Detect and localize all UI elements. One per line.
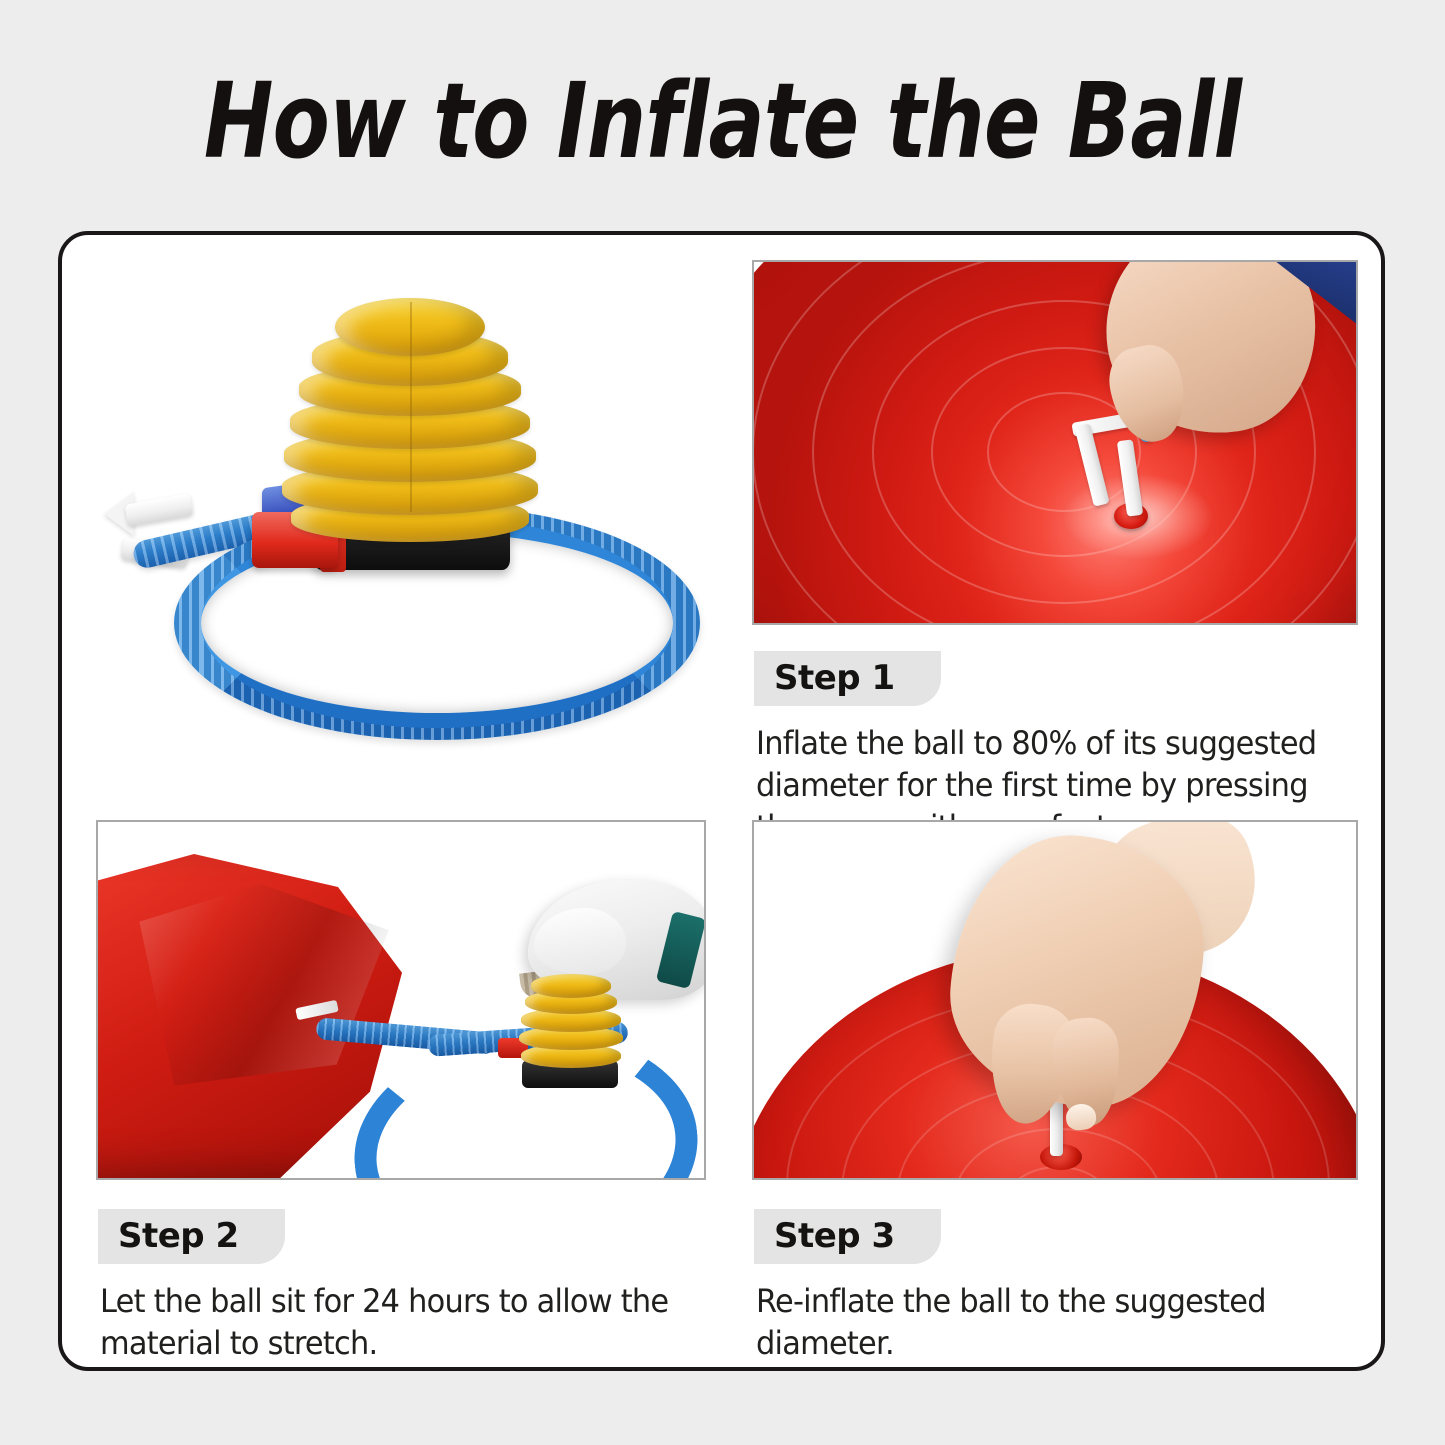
step-1-tag: Step 1 — [754, 651, 941, 706]
steps-card: Step 1 Inflate the ball to 80% of its su… — [58, 231, 1385, 1371]
step-3-panel: Step 3 Re-inflate the ball to the sugges… — [752, 820, 1362, 1345]
hand-inserting-blue-nozzle-into-red-ball-valve — [752, 260, 1358, 625]
step-2-tag-wrap: Step 2 — [98, 1209, 726, 1264]
foot-pump-product-photo — [96, 260, 726, 805]
step-3-tag: Step 3 — [754, 1209, 941, 1264]
step-1-tag-wrap: Step 1 — [754, 651, 1362, 706]
deflated-ball-connected-to-pump-with-shoe — [96, 820, 706, 1180]
bellows-seam — [410, 302, 412, 512]
step-2-panel: Step 2 Let the ball sit for 24 hours to … — [96, 820, 726, 1345]
step-2-description: Let the ball sit for 24 hours to allow t… — [100, 1280, 708, 1364]
pump-illustration — [96, 260, 726, 805]
step-2-tag: Step 2 — [98, 1209, 285, 1264]
hand-inserting-white-plug-into-inflated-ball — [752, 820, 1358, 1180]
page-title: How to Inflate the Ball — [145, 62, 1301, 180]
bellows-top-cap — [531, 974, 611, 998]
infographic-page: How to Inflate the Ball — [0, 0, 1445, 1445]
yellow-bellows — [282, 298, 538, 520]
yellow-bellows — [518, 972, 624, 1068]
hero-panel — [96, 260, 726, 805]
white-nozzle-tip-upper — [125, 493, 194, 526]
step-3-description: Re-inflate the ball to the suggested dia… — [756, 1280, 1383, 1364]
step-3-tag-wrap: Step 3 — [754, 1209, 1362, 1264]
step-1-panel: Step 1 Inflate the ball to 80% of its su… — [752, 260, 1362, 805]
